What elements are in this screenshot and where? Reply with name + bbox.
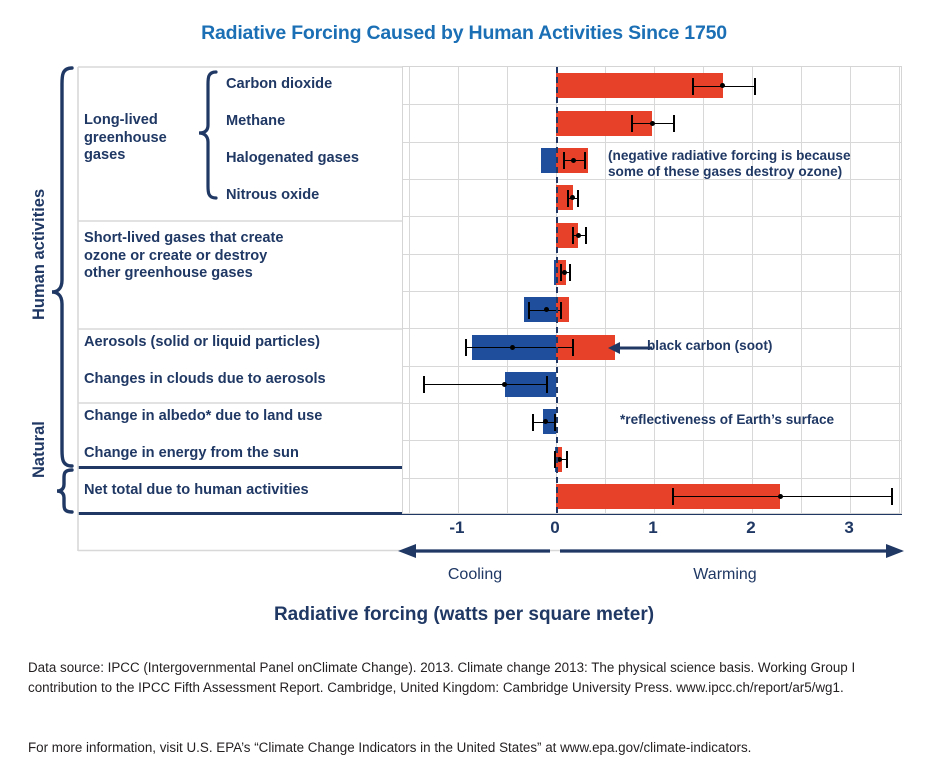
row-label-halogenated-gases: Halogenated gases [226,150,359,168]
gridline-vertical [850,67,851,513]
best-estimate-marker [557,457,562,462]
gridline-horizontal [403,142,901,143]
row-label-aerosols: Aerosols (solid or liquid particles) [84,334,320,352]
error-bar-cap-high [572,339,574,356]
error-bar-cap-low [692,78,694,95]
group-label-natural: Natural [30,421,49,478]
gridline-vertical [703,67,704,513]
gridline-vertical [899,67,900,513]
best-estimate-marker [510,345,515,350]
x-axis-tick-1: 1 [648,518,657,538]
error-bar-cap-high [673,115,675,132]
row-label-net-total: Net total due to human activities [84,482,309,500]
row-label-carbon-dioxide: Carbon dioxide [226,76,332,94]
group-label-long-lived-greenhouse-gases: Long-livedgreenhousegases [84,112,167,165]
gridline-horizontal [403,291,901,292]
zero-reference-line [556,67,558,513]
error-bar-cap-low [528,302,530,319]
gridline-vertical [801,67,802,513]
best-estimate-marker [543,419,548,424]
best-estimate-marker [570,195,575,200]
annotation-albedo: *reflectiveness of Earth’s surface [620,412,834,428]
axis-label-warming: Warming [693,566,756,584]
x-axis-direction-labels: Cooling Warming [380,566,910,590]
gridline-horizontal [403,328,901,329]
x-axis-title: Radiative forcing (watts per square mete… [0,604,928,626]
error-bar-line [424,384,548,385]
page-title: Radiative Forcing Caused by Human Activi… [0,22,928,45]
gridline-vertical [507,67,508,513]
row-label-clouds: Changes in clouds due to aerosols [84,371,326,389]
error-bar-cap-high [577,190,579,207]
error-bar-cap-low [631,115,633,132]
footer-more-information: For more information, visit U.S. EPA’s “… [28,738,900,758]
error-bar-cap-high [560,302,562,319]
x-axis-direction-arrows [380,542,910,566]
plot-area [402,66,902,514]
best-estimate-marker [562,270,567,275]
row-label-column: Long-livedgreenhousegases Carbon dioxide… [78,66,404,514]
error-bar-cap-high [569,264,571,281]
best-estimate-marker [720,83,725,88]
error-bar-cap-low [572,227,574,244]
x-axis-tick-0: 0 [550,518,559,538]
footer-data-source: Data source: IPCC (Intergovernmental Pan… [28,658,900,697]
x-axis-tick-2: 2 [746,518,755,538]
x-axis-tick-labels: -10123 [402,518,902,542]
error-bar-cap-low [567,190,569,207]
gridline-vertical [409,67,410,513]
error-bar-cap-low [465,339,467,356]
error-bar-cap-high [546,376,548,393]
row-label-methane: Methane [226,113,285,131]
x-axis-tick--1: -1 [449,518,464,538]
gridline-horizontal [403,440,901,441]
gridline-horizontal [403,478,901,479]
best-estimate-marker [576,233,581,238]
radiative-forcing-figure: Radiative Forcing Caused by Human Activi… [0,0,928,781]
gridline-vertical [752,67,753,513]
best-estimate-marker [650,121,655,126]
black-carbon-arrow-icon [608,338,652,358]
row-label-nitrous-oxide: Nitrous oxide [226,187,319,205]
best-estimate-marker [544,307,549,312]
error-bar-cap-high [754,78,756,95]
gridline-vertical [654,67,655,513]
gridline-horizontal [403,216,901,217]
error-bar-cap-high [585,227,587,244]
error-bar-cap-low [532,414,534,431]
best-estimate-marker [778,494,783,499]
annotation-halogenated-gases: (negative radiative forcing is becauseso… [608,148,851,180]
best-estimate-marker [571,158,576,163]
row-label-short-lived-gases: Short-lived gases that createozone or cr… [84,230,284,283]
row-label-solar: Change in energy from the sun [84,445,299,463]
annotation-black-carbon: black carbon (soot) [647,338,772,354]
group-label-human-activities: Human activities [30,189,49,320]
row-label-albedo: Change in albedo* due to land use [84,408,322,426]
axis-label-cooling: Cooling [448,566,502,584]
gridline-horizontal [403,403,901,404]
error-bar-cap-low [423,376,425,393]
gridline-horizontal [403,366,901,367]
gridline-vertical [458,67,459,513]
error-bar-cap-high [891,488,893,505]
error-bar-cap-high [566,451,568,468]
bar-negative [541,148,556,173]
gridline-horizontal [403,254,901,255]
error-bar-cap-low [563,152,565,169]
error-bar-cap-low [672,488,674,505]
gridline-horizontal [403,104,901,105]
x-axis-tick-3: 3 [844,518,853,538]
error-bar-cap-high [584,152,586,169]
